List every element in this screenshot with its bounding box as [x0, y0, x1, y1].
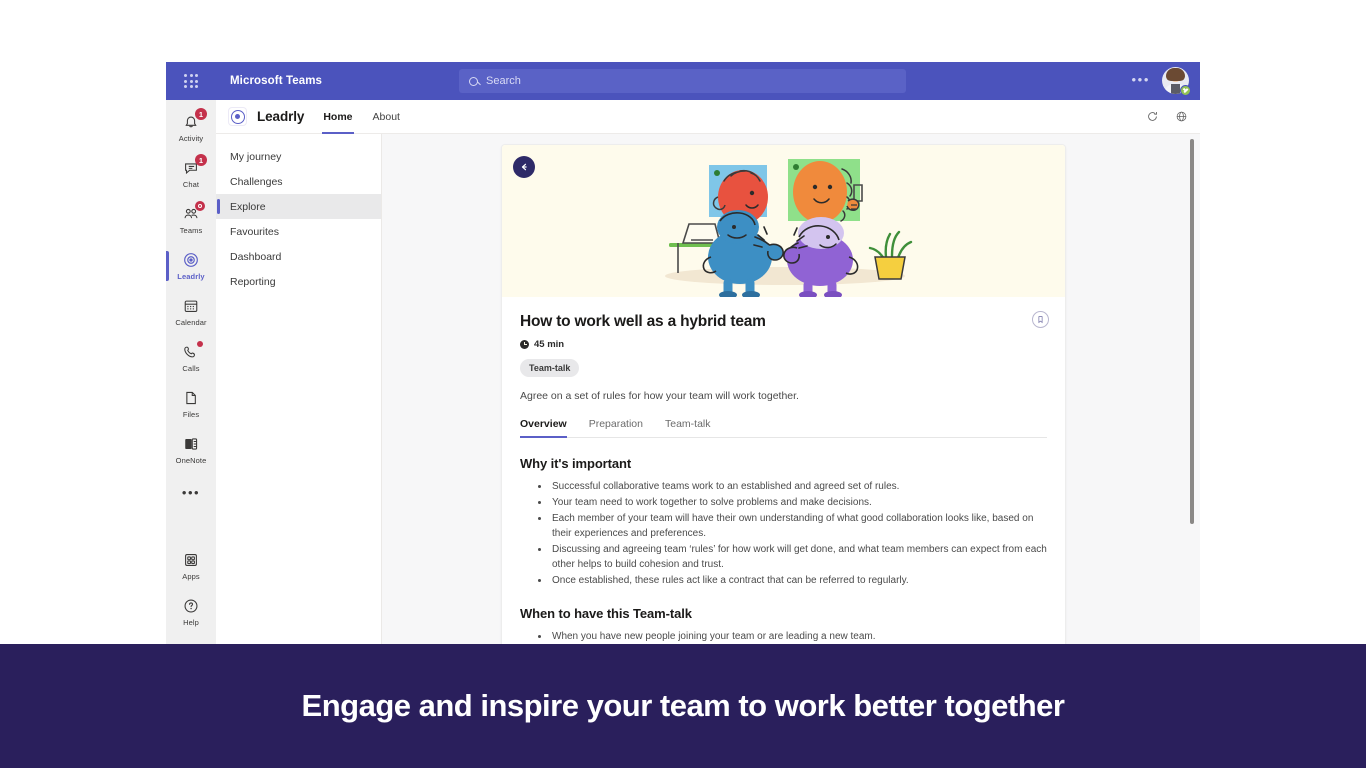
page-title: How to work well as a hybrid team — [520, 313, 1047, 331]
tab-preparation[interactable]: Preparation — [589, 418, 643, 437]
rail-item-files[interactable]: Files — [166, 382, 216, 426]
duration-row: 45 min — [520, 339, 1047, 350]
clock-icon — [520, 340, 529, 349]
presence-available-icon — [1180, 85, 1191, 96]
rail-item-leadrly[interactable]: Leadrly — [166, 244, 216, 288]
rail-label-onenote: OneNote — [176, 456, 207, 465]
activity-badge: 1 — [195, 108, 207, 120]
list-item: Each member of your team will have their… — [550, 511, 1047, 541]
chat-bubble-icon: 1 — [182, 159, 200, 177]
duration-text: 45 min — [534, 339, 564, 350]
teams-badge-dot — [195, 201, 205, 211]
leadrly-app-area: Leadrly Home About — [216, 100, 1200, 644]
rail-label-calls: Calls — [182, 364, 199, 373]
course-card: How to work well as a hybrid team 45 min… — [501, 144, 1066, 644]
leadrly-app-header: Leadrly Home About — [216, 100, 1200, 134]
teams-titlebar: Microsoft Teams Search ••• — [166, 62, 1200, 100]
nav-item-explore[interactable]: Explore — [216, 194, 381, 219]
rail-label-apps: Apps — [182, 572, 200, 581]
course-tabs: Overview Preparation Team-talk — [520, 418, 1047, 438]
section-heading-when-to-have: When to have this Team-talk — [520, 606, 1047, 621]
nav-item-my-journey[interactable]: My journey — [216, 144, 381, 169]
rail-label-files: Files — [183, 410, 199, 419]
refresh-icon[interactable] — [1146, 110, 1159, 123]
rail-item-calendar[interactable]: Calendar — [166, 290, 216, 334]
tab-overview[interactable]: Overview — [520, 418, 567, 437]
bullseye-logo-icon — [228, 107, 247, 126]
content-inner: How to work well as a hybrid team 45 min… — [382, 134, 1200, 644]
app-title: Microsoft Teams — [230, 75, 322, 87]
scrollbar-thumb[interactable] — [1190, 139, 1194, 524]
app-name: Leadrly — [257, 109, 304, 124]
rail-label-help: Help — [183, 618, 199, 627]
people-icon — [182, 205, 200, 223]
teams-left-rail: 1 Activity 1 Chat — [166, 100, 216, 644]
rail-label-activity: Activity — [179, 134, 204, 143]
tab-about[interactable]: About — [372, 100, 401, 134]
list-item: Once established, these rules act like a… — [550, 573, 1047, 588]
course-card-body: How to work well as a hybrid team 45 min… — [502, 297, 1065, 644]
rail-item-chat[interactable]: 1 Chat — [166, 152, 216, 196]
promo-banner: Engage and inspire your team to work bet… — [0, 644, 1366, 768]
list-item: Your team need to work together to solve… — [550, 495, 1047, 510]
nav-item-challenges[interactable]: Challenges — [216, 169, 381, 194]
microsoft-teams-window: Microsoft Teams Search ••• — [166, 62, 1200, 644]
app-launcher-grid-icon[interactable] — [174, 74, 208, 88]
rail-label-chat: Chat — [183, 180, 199, 189]
back-button[interactable] — [513, 156, 535, 178]
rail-more-icon[interactable]: ••• — [182, 474, 200, 498]
nav-item-reporting[interactable]: Reporting — [216, 269, 381, 294]
rail-item-onenote[interactable]: OneNote — [166, 428, 216, 472]
course-description: Agree on a set of rules for how your tea… — [520, 390, 1047, 402]
promo-banner-text: Engage and inspire your team to work bet… — [302, 688, 1065, 724]
bookmark-icon[interactable] — [1032, 311, 1049, 328]
calls-badge-dot — [197, 341, 203, 347]
status-badge: Team-talk — [520, 359, 579, 377]
content-scroll-region[interactable]: How to work well as a hybrid team 45 min… — [382, 134, 1200, 644]
nav-item-favourites[interactable]: Favourites — [216, 219, 381, 244]
globe-icon[interactable] — [1175, 110, 1188, 123]
leadrly-nav: My journey Challenges Explore Favourites… — [216, 134, 382, 644]
bullseye-icon — [182, 251, 200, 269]
chat-badge: 1 — [195, 154, 207, 166]
screenshot-root: Microsoft Teams Search ••• — [0, 0, 1366, 768]
bell-icon: 1 — [182, 113, 200, 131]
app-header-icons — [1146, 110, 1188, 123]
hybrid-team-fist-bump-illustration — [502, 145, 1065, 297]
rail-item-apps[interactable]: Apps — [166, 544, 216, 588]
file-icon — [182, 389, 200, 407]
rail-label-teams: Teams — [180, 226, 203, 235]
tab-team-talk[interactable]: Team-talk — [665, 418, 711, 437]
list-item: Discussing and agreeing team ‘rules’ for… — [550, 542, 1047, 572]
tab-home[interactable]: Home — [322, 100, 353, 134]
list-item: Successful collaborative teams work to a… — [550, 479, 1047, 494]
phone-icon — [182, 343, 200, 361]
scrollbar[interactable] — [1189, 134, 1195, 644]
onenote-icon — [182, 435, 200, 453]
rail-item-activity[interactable]: 1 Activity — [166, 106, 216, 150]
section-list-when-to-have: When you have new people joining your te… — [520, 629, 1047, 644]
rail-label-leadrly: Leadrly — [177, 272, 204, 281]
question-mark-circle-icon — [182, 597, 200, 615]
apps-grid-icon — [182, 551, 200, 569]
teams-body: 1 Activity 1 Chat — [166, 100, 1200, 644]
section-heading-why-important: Why it's important — [520, 456, 1047, 471]
search-icon — [469, 77, 478, 86]
rail-item-help[interactable]: Help — [166, 590, 216, 634]
nav-item-dashboard[interactable]: Dashboard — [216, 244, 381, 269]
search-box[interactable]: Search — [459, 69, 906, 93]
rail-label-calendar: Calendar — [175, 318, 206, 327]
leadrly-main: My journey Challenges Explore Favourites… — [216, 134, 1200, 644]
calendar-icon — [182, 297, 200, 315]
section-list-why-important: Successful collaborative teams work to a… — [520, 479, 1047, 588]
search-input[interactable]: Search — [486, 75, 521, 87]
list-item: When you have new people joining your te… — [550, 629, 1047, 644]
titlebar-more-icon[interactable]: ••• — [1132, 75, 1150, 85]
rail-item-calls[interactable]: Calls — [166, 336, 216, 380]
rail-item-teams[interactable]: Teams — [166, 198, 216, 242]
rail-bottom-group: Apps Help — [166, 544, 216, 636]
